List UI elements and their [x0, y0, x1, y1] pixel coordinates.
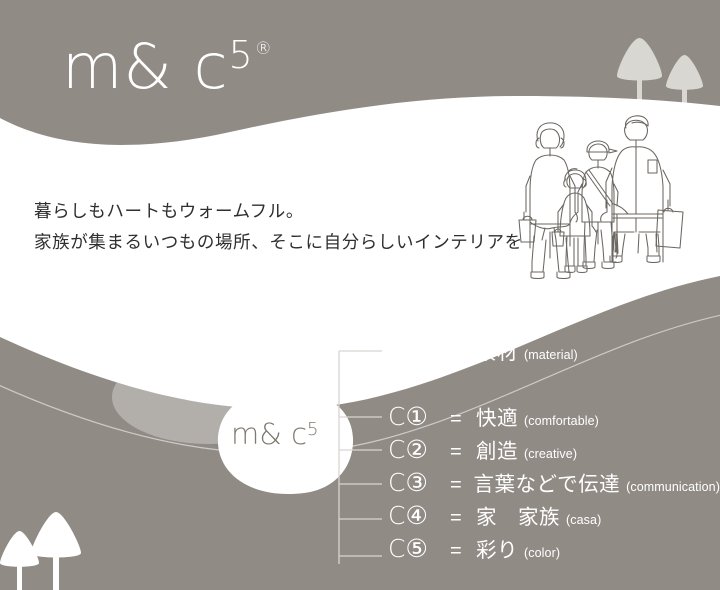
- brand-concept-graphic: m& c5® 暮らしもハートもウォームフル。 家族が集まるいつもの場所、そこに自…: [0, 0, 720, 590]
- legend-english: (color): [524, 546, 560, 560]
- legend-english: (communication): [626, 480, 720, 494]
- brand-logo-header: m& c5®: [62, 36, 273, 98]
- legend-key: C②: [388, 437, 450, 462]
- legend-row-color: C⑤ = 彩り (color): [388, 533, 720, 566]
- legend-japanese: 素材: [476, 335, 518, 365]
- legend-japanese: 創造: [476, 434, 518, 464]
- legend-equals: =: [450, 408, 476, 431]
- legend-japanese: 快適: [476, 401, 518, 431]
- legend-equals: =: [450, 441, 476, 464]
- legend-english: (creative): [524, 447, 577, 461]
- legend-japanese: 言葉などで伝達: [474, 467, 621, 497]
- legend-japanese: 彩り: [476, 533, 518, 563]
- legend-row-ampersand: &: [388, 368, 720, 401]
- legend-equals: =: [450, 507, 476, 530]
- legend-key: C①: [388, 404, 450, 429]
- legend-english: (casa): [566, 513, 601, 527]
- emblem-label-superscript: 5: [307, 419, 318, 440]
- tagline: 暮らしもハートもウォームフル。 家族が集まるいつもの場所、そこに自分らしいインテ…: [34, 196, 523, 257]
- legend-row-communication: C③ = 言葉などで伝達 (communication): [388, 467, 720, 500]
- legend-equals: =: [450, 540, 476, 563]
- legend-key: m: [388, 338, 450, 363]
- legend-list: m = 素材 (material) & C① = 快適 (comfortable…: [388, 335, 720, 566]
- emblem-label: m& c5: [231, 420, 318, 449]
- legend-row-material: m = 素材 (material): [388, 335, 720, 368]
- legend-english: (material): [524, 348, 578, 362]
- legend-key: C④: [388, 503, 450, 528]
- legend-japanese: 家 家族: [476, 500, 560, 530]
- tagline-line-2: 家族が集まるいつもの場所、そこに自分らしいインテリアを: [34, 227, 523, 258]
- registered-trademark-icon: ®: [255, 39, 273, 59]
- legend-row-creative: C② = 創造 (creative): [388, 434, 720, 467]
- legend-key: &: [388, 368, 450, 388]
- tagline-line-1: 暮らしもハートもウォームフル。: [34, 196, 523, 227]
- brand-logo-superscript: 5: [229, 33, 253, 77]
- legend-row-comfortable: C① = 快適 (comfortable): [388, 401, 720, 434]
- legend-key: C⑤: [388, 536, 450, 561]
- legend-english: (comfortable): [524, 414, 599, 428]
- legend-equals: =: [450, 474, 474, 497]
- legend-row-casa: C④ = 家 家族 (casa): [388, 500, 720, 533]
- emblem-label-main: m& c: [231, 417, 307, 451]
- brand-logo-main: m& c: [62, 30, 229, 103]
- legend-equals: =: [450, 342, 476, 365]
- legend-key: C③: [388, 470, 450, 495]
